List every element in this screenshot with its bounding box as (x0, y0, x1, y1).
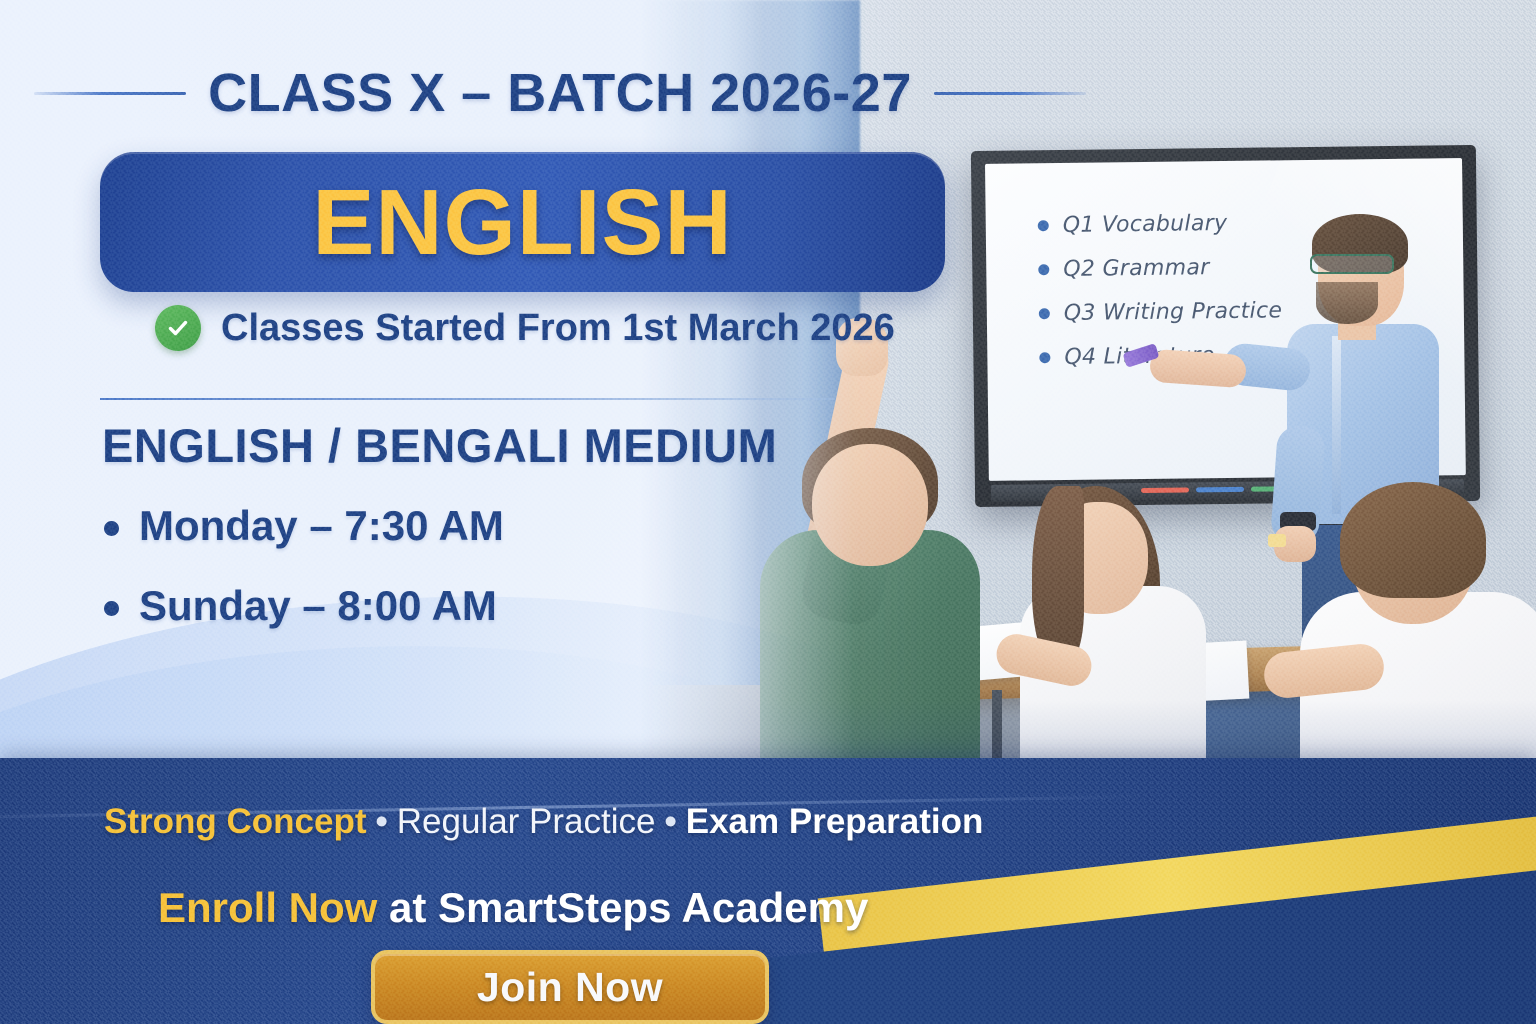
teacher-shirt-placket (1332, 336, 1341, 514)
enroll-rest: at SmartSteps Academy (377, 884, 868, 931)
bullet-dot-icon (1039, 308, 1050, 319)
enroll-highlight: Enroll Now (158, 884, 377, 931)
marker-blue-icon (1196, 487, 1244, 493)
teacher-pointing-arm (1149, 349, 1247, 389)
teacher-glasses-icon (1310, 254, 1394, 274)
status-row: Classes Started From 1st March 2026 (155, 305, 895, 351)
marker-red-icon (1141, 487, 1189, 493)
teacher-chalk-icon (1268, 534, 1286, 547)
bottom-band: Strong Concept•Regular Practice•Exam Pre… (0, 758, 1536, 1024)
tagline-part-3: Exam Preparation (686, 802, 984, 841)
enroll-line: Enroll Now at SmartSteps Academy (158, 884, 868, 932)
page-title: CLASS X – BATCH 2026-27 (208, 62, 912, 124)
bullet-dot-icon (1039, 352, 1050, 363)
medium-heading: ENGLISH / BENGALI MEDIUM (102, 418, 777, 473)
student-hair-front (1032, 486, 1084, 662)
schedule-item-label: Sunday – 8:00 AM (139, 582, 497, 630)
subject-name: ENGLISH (312, 169, 732, 276)
title-rule-left-icon (34, 92, 186, 95)
student-head (812, 444, 928, 566)
schedule-item-label: Monday – 7:30 AM (139, 502, 504, 550)
bullet-dot-icon (1038, 220, 1049, 231)
whiteboard-item-label: Q1 Vocabulary (1063, 211, 1228, 238)
bullet-dot-icon (104, 521, 119, 536)
status-text: Classes Started From 1st March 2026 (221, 307, 895, 350)
advertisement-banner: Q1 Vocabulary Q2 Grammar Q3 Writing Prac… (0, 0, 1536, 1024)
schedule-item: Sunday – 8:00 AM (104, 582, 504, 630)
student-hair (1340, 482, 1486, 598)
schedule-list: Monday – 7:30 AM Sunday – 8:00 AM (104, 502, 504, 662)
teacher-beard (1316, 282, 1378, 324)
title-rule-right-icon (934, 92, 1086, 95)
tagline: Strong Concept•Regular Practice•Exam Pre… (104, 802, 983, 842)
whiteboard-item-label: Q2 Grammar (1063, 255, 1210, 282)
join-now-label: Join Now (477, 964, 663, 1011)
check-circle-icon (155, 305, 201, 351)
bullet-dot-icon (1038, 264, 1049, 275)
subject-banner: ENGLISH (100, 152, 945, 292)
bullet-dot-icon (104, 601, 119, 616)
schedule-item: Monday – 7:30 AM (104, 502, 504, 550)
tagline-separator-2: • (655, 802, 685, 841)
join-now-button[interactable]: Join Now (371, 950, 769, 1024)
header-title-row: CLASS X – BATCH 2026-27 (0, 62, 1120, 124)
tagline-separator-1: • (366, 802, 396, 841)
tagline-part-1: Strong Concept (104, 802, 366, 841)
section-divider (100, 398, 835, 400)
tagline-part-2: Regular Practice (397, 802, 656, 841)
